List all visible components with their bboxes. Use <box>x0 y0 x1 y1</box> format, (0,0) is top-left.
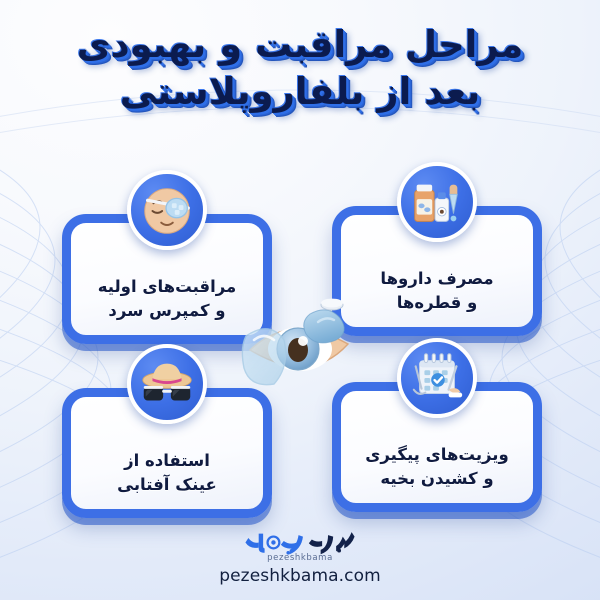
card-label-line-2: و کمپرس سرد <box>98 299 237 322</box>
eye-with-shield-and-ice-pack-icon <box>232 278 374 402</box>
logo-latin-text: pezeshkbama <box>0 553 600 563</box>
medicine-bottle-and-eye-drops-icon <box>397 162 477 242</box>
card-label-line-1: مراقبت‌های اولیه <box>98 275 237 298</box>
card-label: مراقبت‌های اولیه و کمپرس سرد <box>92 275 243 322</box>
face-with-eye-patch-icon <box>127 170 207 250</box>
card-label-line-1: استفاده از <box>117 449 217 472</box>
calendar-check-with-surgical-tools-icon <box>397 338 477 418</box>
footer-branding: pezeshkbama pezeshkbama.com <box>0 524 600 586</box>
card-label-line-2: و کشیدن بخیه <box>365 467 509 490</box>
sunhat-and-sunglasses-icon <box>127 344 207 424</box>
card-label-line-1: مصرف داروها <box>380 267 493 290</box>
card-label: استفاده از عینک آفتابی <box>111 449 223 496</box>
title-line-1: مراحل مراقبت و بهبودی <box>0 22 600 69</box>
card-label: ویزیت‌های پیگیری و کشیدن بخیه <box>359 443 515 490</box>
poster-title: مراحل مراقبت و بهبودی بعد از بلفاروپلاست… <box>0 22 600 115</box>
title-line-2: بعد از بلفاروپلاستی <box>0 69 600 116</box>
card-label-line-2: و قطره‌ها <box>380 291 493 314</box>
website-domain: pezeshkbama.com <box>0 566 600 586</box>
card-label-line-1: ویزیت‌های پیگیری <box>365 443 509 466</box>
card-label: مصرف داروها و قطره‌ها <box>374 267 499 314</box>
infographic-poster: مراحل مراقبت و بهبودی بعد از بلفاروپلاست… <box>0 0 600 600</box>
card-label-line-2: عینک آفتابی <box>117 473 217 496</box>
